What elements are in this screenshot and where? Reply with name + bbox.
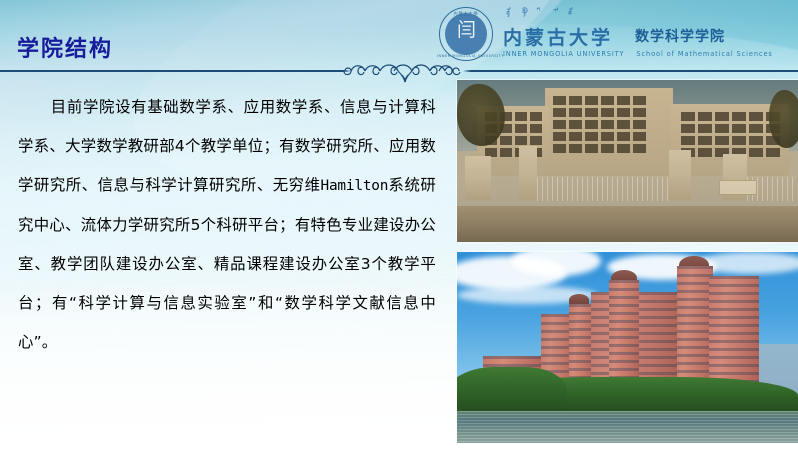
mongolian-glyph-3: ᠷ — [535, 7, 542, 26]
brand-chinese-row: 内蒙古大学 数学科学学院 — [503, 27, 773, 49]
slide-body-text: 目前学院设有基础数学系、应用数学系、信息与计算科学系、大学数学教研部4个教学单位… — [18, 88, 436, 362]
school-name-en: School of Mathematical Sciences — [636, 50, 772, 58]
body-text-part-2: 系统研究中心、流体力学研究所5个科研平台；有特色专业建设办公室、教学团队建设办公… — [18, 176, 436, 351]
university-name-cn: 内蒙古大学 — [503, 27, 613, 49]
mongolian-scroll-ornament-icon — [342, 60, 468, 84]
university-brand-header: 內蒙古大學 闫 INNER MONGOLIA UNIVERSITY ᠥ ᠪᠥ ᠷ… — [437, 5, 795, 67]
new-photo-lake — [457, 411, 798, 443]
emblem-center-glyph: 闫 — [437, 21, 495, 40]
slide-title: 学院结构 — [17, 36, 113, 62]
old-campus-gate-photo — [457, 80, 798, 242]
new-campus-building-photo — [457, 252, 798, 443]
new-photo-scene — [457, 252, 798, 443]
old-photo-scene — [457, 80, 798, 242]
school-name-cn: 数学科学学院 — [635, 26, 725, 48]
mongolian-glyph-4: ᠮ — [550, 7, 557, 26]
inner-mongolia-university-emblem-icon: 內蒙古大學 闫 INNER MONGOLIA UNIVERSITY — [437, 5, 495, 63]
brand-name-block: ᠥ ᠪᠥ ᠷ ᠮ ᠣ 内蒙古大学 数学科学学院 INNER MONGOLIA U… — [503, 5, 773, 58]
old-photo-sepia-overlay — [457, 80, 798, 242]
mongolian-glyph-1: ᠥ — [504, 7, 511, 26]
new-photo-lake-reflection — [457, 411, 798, 443]
mongolian-glyph-2: ᠪᠥ — [519, 7, 526, 26]
emblem-arc-bottom-text: INNER MONGOLIA UNIVERSITY — [437, 54, 495, 58]
new-photo-treeline-left — [457, 367, 567, 411]
presentation-slide: 內蒙古大學 闫 INNER MONGOLIA UNIVERSITY ᠥ ᠪᠥ ᠷ… — [0, 0, 798, 450]
mongolian-glyph-5: ᠣ — [566, 7, 573, 26]
university-name-en: INNER MONGOLIA UNIVERSITY — [503, 50, 624, 58]
brand-english-row: INNER MONGOLIA UNIVERSITY School of Math… — [503, 50, 773, 58]
body-text-latin-term: Hamilton — [321, 178, 389, 194]
mongolian-script-line: ᠥ ᠪᠥ ᠷ ᠮ ᠣ — [503, 7, 773, 26]
